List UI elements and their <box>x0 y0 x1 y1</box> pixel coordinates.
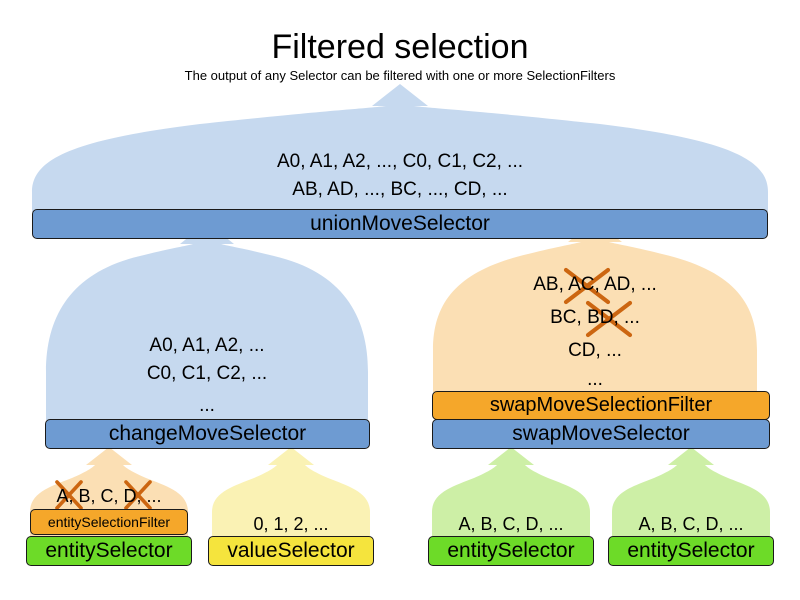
entity-selector-swap-right-bar[interactable]: entitySelector <box>608 536 774 566</box>
swap-move-selection-filter-bar[interactable]: swapMoveSelectionFilter <box>432 391 770 420</box>
entity-selector-swap-left-dome <box>432 447 590 538</box>
entity-selector-swap-right-dome <box>612 447 770 538</box>
entity-selector-swap-left-bar[interactable]: entitySelector <box>428 536 594 566</box>
entity-selector-filtered-bar[interactable]: entitySelector <box>26 536 192 566</box>
union-move-selector-dome <box>32 84 768 212</box>
page-subtitle: The output of any Selector can be filter… <box>0 68 800 84</box>
swap-move-selector-bar[interactable]: swapMoveSelector <box>432 419 770 449</box>
value-selector-bar[interactable]: valueSelector <box>208 536 374 566</box>
change-move-selector-bar[interactable]: changeMoveSelector <box>45 419 370 449</box>
value-selector-dome <box>212 447 370 538</box>
union-move-selector-bar[interactable]: unionMoveSelector <box>32 209 768 239</box>
page-title: Filtered selection <box>0 27 800 67</box>
change-move-selector-dome <box>46 222 368 420</box>
entity-selection-filter-bar[interactable]: entitySelectionFilter <box>30 509 188 535</box>
diagram-canvas: .sh { stroke: none; } <box>0 0 800 600</box>
